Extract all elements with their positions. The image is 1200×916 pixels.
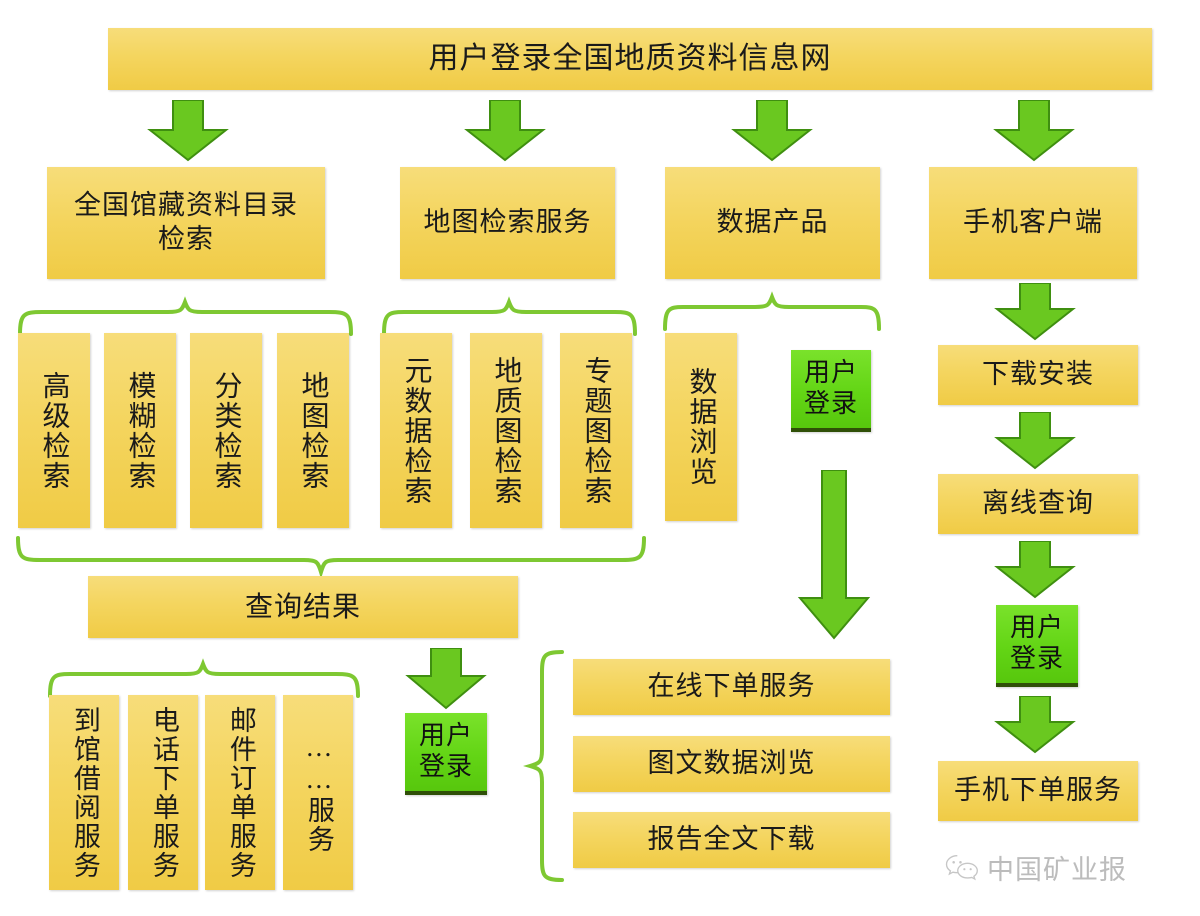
flowchart-canvas: 用户登录全国地质资料信息网 全国馆藏资料目录检索 地图检索服务 数据产品 手机客… bbox=[0, 0, 1200, 916]
online-service-browse[interactable]: 图文数据浏览 bbox=[573, 736, 890, 792]
result-service-label: 邮件订单服务 bbox=[223, 706, 257, 880]
catalog-item-label: 模糊检索 bbox=[123, 371, 158, 491]
user-login-line2: 登录 bbox=[1010, 644, 1064, 675]
catalog-item-advanced-search[interactable]: 高级检索 bbox=[18, 333, 90, 528]
brace-data-group-top bbox=[663, 295, 881, 331]
user-login-line1: 用户 bbox=[804, 358, 858, 389]
map-item-label: 元数据检索 bbox=[399, 356, 434, 506]
watermark-label: 中国矿业报 bbox=[987, 848, 1127, 887]
title-box: 用户登录全国地质资料信息网 bbox=[108, 28, 1152, 90]
level2-box-catalog-search[interactable]: 全国馆藏资料目录检索 bbox=[47, 167, 325, 279]
level2-label-map-search-service: 地图检索服务 bbox=[424, 206, 592, 240]
level2-box-data-product[interactable]: 数据产品 bbox=[665, 167, 880, 279]
result-service-label: 电话下单服务 bbox=[146, 706, 180, 880]
arrow-down-to-mobile-login bbox=[993, 541, 1077, 599]
mobile-step-offline-query[interactable]: 离线查询 bbox=[938, 474, 1138, 534]
brace-catalog-group-top bbox=[18, 300, 353, 336]
arrow-down-to-catalog bbox=[146, 100, 230, 162]
mobile-step-label: 手机下单服务 bbox=[954, 774, 1122, 808]
user-login-line1: 用户 bbox=[1010, 613, 1064, 644]
catalog-item-fuzzy-search[interactable]: 模糊检索 bbox=[104, 333, 176, 528]
arrow-down-to-download-install bbox=[993, 283, 1077, 341]
mobile-step-download-install[interactable]: 下载安装 bbox=[938, 345, 1138, 405]
level2-label-mobile-client: 手机客户端 bbox=[963, 206, 1103, 240]
user-login-line1: 用户 bbox=[419, 721, 473, 752]
online-service-fulltext-download[interactable]: 报告全文下载 bbox=[573, 812, 890, 868]
result-service-mail-order[interactable]: 邮件订单服务 bbox=[205, 695, 275, 890]
catalog-item-label: 地图检索 bbox=[296, 371, 331, 491]
catalog-item-label: 分类检索 bbox=[209, 371, 244, 491]
query-result-box[interactable]: 查询结果 bbox=[88, 576, 518, 638]
result-service-onsite-borrow[interactable]: 到馆借阅服务 bbox=[49, 695, 119, 890]
level2-box-map-search-service[interactable]: 地图检索服务 bbox=[400, 167, 615, 279]
map-item-metadata-search[interactable]: 元数据检索 bbox=[380, 333, 452, 528]
catalog-item-map-search[interactable]: 地图检索 bbox=[277, 333, 349, 528]
catalog-item-category-search[interactable]: 分类检索 bbox=[190, 333, 262, 528]
brace-online-services-left bbox=[520, 650, 564, 882]
arrow-down-to-mobile-order-service bbox=[993, 696, 1077, 754]
data-item-data-browse[interactable]: 数据浏览 bbox=[665, 333, 737, 521]
online-service-label: 报告全文下载 bbox=[648, 823, 816, 857]
map-item-label: 地质图检索 bbox=[489, 356, 524, 506]
arrow-down-to-offline-query bbox=[993, 412, 1077, 470]
title-label: 用户登录全国地质资料信息网 bbox=[429, 40, 832, 78]
result-service-label: ……服务 bbox=[301, 732, 335, 854]
mobile-step-mobile-order-service[interactable]: 手机下单服务 bbox=[938, 761, 1138, 821]
map-item-geomap-search[interactable]: 地质图检索 bbox=[470, 333, 542, 528]
level2-label-catalog-search: 全国馆藏资料目录检索 bbox=[65, 189, 307, 257]
arrow-down-to-mobile-client bbox=[992, 100, 1076, 162]
brace-map-group-top bbox=[382, 300, 637, 336]
result-service-other[interactable]: ……服务 bbox=[283, 695, 353, 890]
watermark: 中国矿业报 bbox=[945, 848, 1127, 887]
level2-box-mobile-client[interactable]: 手机客户端 bbox=[929, 167, 1137, 279]
result-service-label: 到馆借阅服务 bbox=[67, 706, 101, 880]
user-login-mobile-client[interactable]: 用户 登录 bbox=[996, 605, 1078, 687]
arrow-down-to-data-product bbox=[730, 100, 814, 162]
result-service-phone-order[interactable]: 电话下单服务 bbox=[128, 695, 198, 890]
map-item-label: 专题图检索 bbox=[579, 356, 614, 506]
user-login-data-product[interactable]: 用户 登录 bbox=[791, 350, 871, 432]
user-login-result-services[interactable]: 用户 登录 bbox=[405, 713, 487, 795]
brace-search-results-bottom bbox=[16, 536, 646, 580]
wechat-icon bbox=[945, 853, 979, 883]
catalog-item-label: 高级检索 bbox=[37, 371, 72, 491]
mobile-step-label: 离线查询 bbox=[982, 487, 1094, 521]
arrow-down-to-map-service bbox=[463, 100, 547, 162]
query-result-label: 查询结果 bbox=[245, 590, 361, 625]
arrow-down-to-result-login bbox=[404, 648, 488, 710]
user-login-line2: 登录 bbox=[804, 389, 858, 420]
online-service-order[interactable]: 在线下单服务 bbox=[573, 659, 890, 715]
online-service-label: 图文数据浏览 bbox=[648, 747, 816, 781]
data-item-label: 数据浏览 bbox=[684, 367, 719, 487]
online-service-label: 在线下单服务 bbox=[648, 670, 816, 704]
mobile-step-label: 下载安装 bbox=[982, 358, 1094, 392]
brace-result-services-top bbox=[48, 662, 360, 698]
level2-label-data-product: 数据产品 bbox=[717, 206, 829, 240]
map-item-thematic-search[interactable]: 专题图检索 bbox=[560, 333, 632, 528]
user-login-line2: 登录 bbox=[419, 752, 473, 783]
arrow-down-data-login-to-services bbox=[796, 470, 872, 640]
